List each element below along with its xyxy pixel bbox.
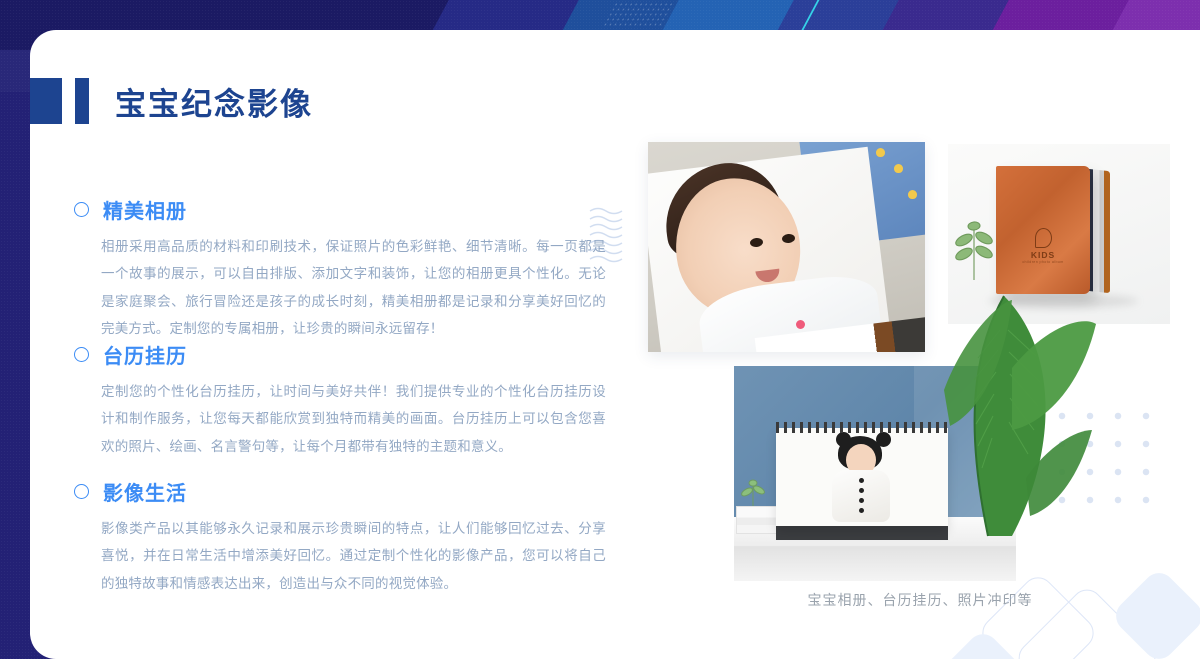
section-台历挂历: 台历挂历 定制您的个性化台历挂历，让时间与美好共伴！我们提供专业的个性化台历挂历… [74,340,604,460]
small-leaf-icon [952,216,994,282]
gallery-caption: 宝宝相册、台历挂历、照片冲印等 [630,590,1200,610]
section-body: 相册采用高品质的材料和印刷技术，保证照片的色彩鲜艳、细节清晰。每一页都是一个故事… [101,233,606,343]
slide-page: 宝宝纪念影像 精美相册 相册采用高品质的材料和印刷技术，保证照片的色彩鲜艳、细节… [0,0,1200,659]
small-plant-icon [740,476,766,510]
section-title: 精美相册 [103,195,187,224]
title-block-square [30,78,62,124]
content-card: 宝宝纪念影像 精美相册 相册采用高品质的材料和印刷技术，保证照片的色彩鲜艳、细节… [30,30,1200,659]
page-title: 宝宝纪念影像 [30,78,313,124]
product-gallery: KIDS children photo album [630,30,1200,659]
section-title: 台历挂历 [103,340,187,369]
text-column: 宝宝纪念影像 精美相册 相册采用高品质的材料和印刷技术，保证照片的色彩鲜艳、细节… [30,30,610,659]
section-header: 精美相册 [74,195,604,224]
album-logo: KIDS children photo album [1018,228,1068,264]
section-title: 影像生活 [103,477,187,506]
section-body: 定制您的个性化台历挂历，让时间与美好共伴！我们提供专业的个性化台历挂历设计和制作… [101,378,606,460]
album-logo-text: KIDS [1018,250,1068,260]
section-精美相册: 精美相册 相册采用高品质的材料和印刷技术，保证照片的色彩鲜艳、细节清晰。每一页都… [74,195,604,343]
gallery-image-leather-album: KIDS children photo album [948,144,1170,324]
circle-bullet-icon [74,484,89,499]
circle-bullet-icon [74,202,89,217]
gallery-image-open-album [648,142,925,352]
section-header: 台历挂历 [74,340,604,369]
page-title-text: 宝宝纪念影像 [115,79,313,124]
circle-bullet-icon [74,347,89,362]
section-影像生活: 影像生活 影像类产品以其能够永久记录和展示珍贵瞬间的特点，让人们能够回忆过去、分… [74,477,604,597]
section-body: 影像类产品以其能够永久记录和展示珍贵瞬间的特点，让人们能够回忆过去、分享喜悦，并… [101,515,606,597]
album-logo-subtext: children photo album [1018,260,1068,264]
gallery-image-desk-calendar [734,366,1016,581]
section-header: 影像生活 [74,477,604,506]
album-logo-icon [1035,228,1052,248]
title-block-bar [75,78,89,124]
